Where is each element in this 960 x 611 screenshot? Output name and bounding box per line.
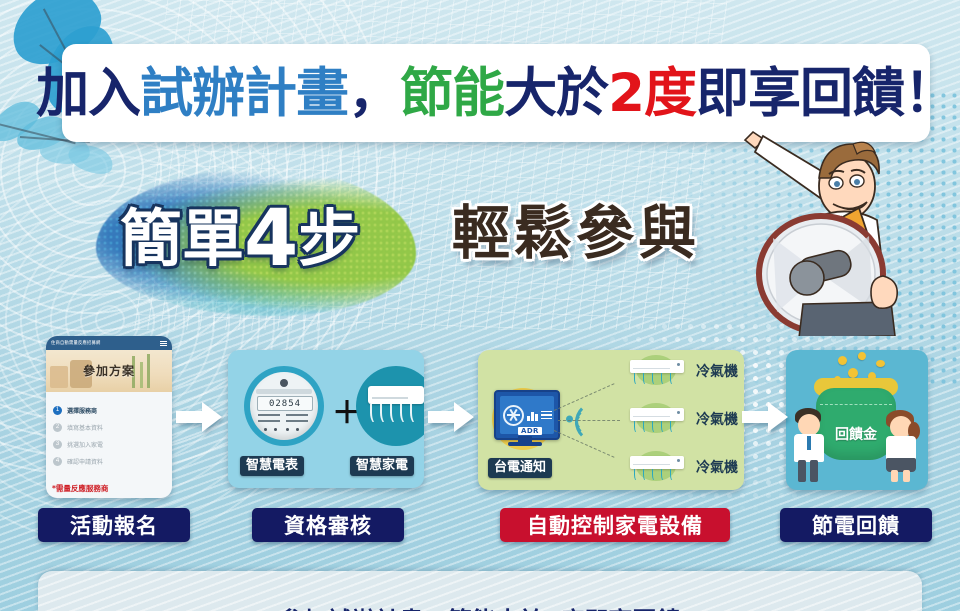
phone-hero-banner: 參加方案: [46, 350, 172, 392]
step-panel-signup: 住商自動需量反應招募網 參加方案 1 選擇服務商 2 填寫基本資料 3 挑選加入…: [46, 336, 172, 498]
step-number: 3: [53, 440, 62, 449]
title-segment-3: ，: [348, 63, 400, 124]
step-panel-auto-control: ADR 台電通知 冷氣機 冷氣機: [478, 350, 744, 490]
title-segment-6: 2度: [608, 63, 696, 124]
person-male-icon: [790, 408, 832, 480]
step-label-auto-control: 自動控制家電設備: [500, 508, 730, 542]
bottom-panel-text: 參加試辦計畫，節能大於2度即享回饋: [38, 601, 922, 611]
adr-monitor-icon: ADR: [494, 390, 560, 440]
monitor-base: [508, 442, 542, 446]
appliance-row: 冷氣機: [626, 406, 738, 432]
right-arrow-icon: [176, 400, 222, 434]
air-conditioner-body: [368, 386, 424, 404]
man-with-megaphone-icon: [737, 126, 942, 336]
air-conditioner-icon: [626, 406, 688, 432]
smart-meter-caption: 智慧電表: [240, 456, 304, 476]
bottom-panel: 參加試辦計畫，節能大於2度即享回饋: [38, 571, 922, 611]
appliance-row: 冷氣機: [626, 454, 738, 480]
title-segment-1: 加入: [36, 63, 140, 124]
step-label-qualification: 資格審核: [252, 508, 404, 542]
step-label-signup: 活動報名: [38, 508, 190, 542]
step-number: 4: [53, 457, 62, 466]
appliance-label: 冷氣機: [696, 457, 738, 477]
right-arrow-icon: [428, 400, 474, 434]
right-arrow-icon: [742, 400, 788, 434]
air-conditioner-airflow: [368, 404, 424, 422]
step-number: 1: [53, 406, 62, 415]
smart-appliance-caption: 智慧家電: [350, 456, 414, 476]
headline-suffix: 步: [298, 202, 360, 275]
list-item[interactable]: 2 填寫基本資料: [53, 419, 165, 436]
headline-easy-join: 輕鬆參與: [452, 204, 700, 262]
title-segment-4: 節能: [400, 63, 504, 124]
list-lines-icon: [541, 411, 552, 420]
phone-header: 住商自動需量反應招募網: [46, 336, 172, 350]
list-item[interactable]: 3 挑選加入家電: [53, 436, 165, 453]
list-item-label: 選擇服務商: [67, 406, 97, 415]
step-label-rebate: 節電回饋: [780, 508, 932, 542]
list-item[interactable]: 1 選擇服務商: [53, 402, 165, 419]
step-panel-rebate: 回饋金: [786, 350, 928, 490]
page-title: 加入試辦計畫，節能大於2度即享回饋！: [36, 67, 956, 120]
hamburger-icon[interactable]: [160, 341, 167, 346]
list-item-label: 填寫基本資料: [67, 423, 103, 432]
phone-header-title: 住商自動需量反應招募網: [51, 340, 100, 346]
headline-simple-steps: 簡單4步: [120, 200, 360, 278]
air-conditioner-icon: [626, 454, 688, 480]
money-bag-tie: [820, 404, 892, 405]
meter-top-dot: [280, 379, 288, 387]
air-conditioner-icon: [626, 358, 688, 384]
dial-icon: [503, 405, 524, 426]
adr-badge: ADR: [518, 427, 542, 435]
person-female-icon: [882, 410, 924, 480]
title-segment-2: 試辦計畫: [140, 63, 348, 124]
list-item-label: 挑選加入家電: [67, 440, 103, 449]
list-item-label: 確認申請資料: [67, 457, 103, 466]
phone-step-list: 1 選擇服務商 2 填寫基本資料 3 挑選加入家電 4 確認申請資料: [46, 392, 172, 470]
meter-top-bar: [256, 389, 312, 394]
bar-chart-icon: [527, 410, 538, 421]
title-segment-5: 大於: [504, 63, 608, 124]
headline-prefix: 簡單: [120, 202, 244, 275]
appliance-row: 冷氣機: [626, 358, 738, 384]
appliance-label: 冷氣機: [696, 361, 738, 381]
step-number: 2: [53, 423, 62, 432]
title-segment-7: 即享回饋！: [696, 63, 956, 124]
list-item[interactable]: 4 確認申請資料: [53, 453, 165, 470]
phone-hero-text: 參加方案: [46, 362, 172, 379]
step-panel-qualification: 02854 ＋ 智慧電表 智慧家電: [228, 350, 424, 488]
meter-reading-display: 02854: [257, 396, 313, 411]
headline-number: 4: [244, 194, 298, 284]
taipower-notice-caption: 台電通知: [488, 458, 552, 478]
phone-footnote: *需量反應服務商: [52, 483, 108, 494]
infographic-stage: 加入試辦計畫，節能大於2度即享回饋！ 簡單4步 輕鬆參與: [0, 0, 960, 611]
appliance-label: 冷氣機: [696, 409, 738, 429]
